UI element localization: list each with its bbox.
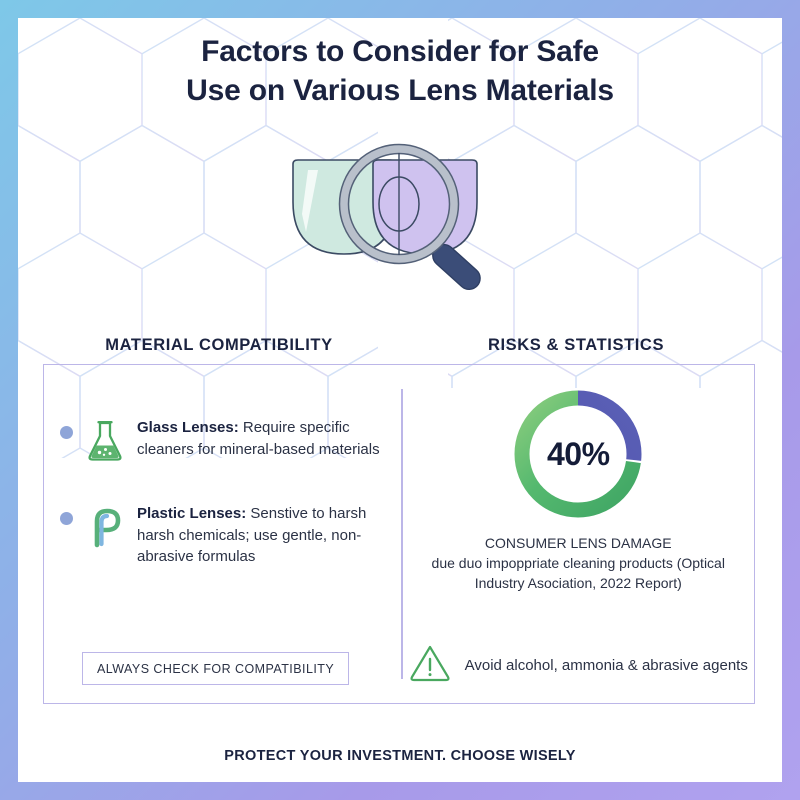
donut-center-value: 40% [511,387,645,521]
list-item-term: Plastic Lenses: [137,505,246,522]
risks-statistics-heading: RISKS & STATISTICS [488,336,664,354]
warning-text: Avoid alcohol, ammonia & abrasive agents [465,655,748,676]
footer-tagline: PROTECT YOUR INVESTMENT. CHOOSE WISELY [18,748,782,764]
statistic-caption: CONSUMER LENS DAMAGE due duo impoppriate… [419,533,739,593]
statistic-caption-head: CONSUMER LENS DAMAGE [419,533,739,553]
title-line-2: Use on Various Lens Materials [18,71,782,110]
list-item: Plastic Lenses: Senstive to harsh harsh … [60,503,389,568]
lens-magnifier-illustration [275,136,525,296]
bullet-dot-icon [60,512,73,525]
content-panel: Glass Lenses: Require specific cleaners … [43,364,755,704]
poster-canvas: Factors to Consider for Safe Use on Vari… [18,18,782,782]
material-compatibility-column: Glass Lenses: Require specific cleaners … [44,365,401,703]
material-compatibility-heading: MATERIAL COMPATIBILITY [105,336,332,354]
plastic-polymer-p-icon [79,505,131,549]
flask-icon [79,419,131,463]
warning-triangle-icon [409,643,451,688]
bullet-dot-icon [60,426,73,439]
list-item-text: Glass Lenses: Require specific cleaners … [137,417,389,460]
right-heading-wrap: RISKS & STATISTICS [395,336,757,355]
risks-statistics-column: 40% CONSUMER LENS DAMAGE due duo impoppr… [403,365,755,703]
hero-illustration [18,136,782,296]
donut-chart: 40% [403,387,755,521]
page-title: Factors to Consider for Safe Use on Vari… [18,32,782,110]
title-line-1: Factors to Consider for Safe [18,32,782,71]
material-bullet-list: Glass Lenses: Require specific cleaners … [60,417,389,608]
warning-row: Avoid alcohol, ammonia & abrasive agents [403,643,755,688]
list-item-text: Plastic Lenses: Senstive to harsh harsh … [137,503,389,568]
statistic-caption-body: due duo impoppriate cleaning products (O… [432,555,725,591]
list-item: Glass Lenses: Require specific cleaners … [60,417,389,463]
list-item-term: Glass Lenses: [137,419,239,436]
always-check-compatibility-button[interactable]: ALWAYS CHECK FOR COMPATIBILITY [82,652,349,685]
plastic-lens-shape [373,160,477,254]
section-headings: MATERIAL COMPATIBILITY RISKS & STATISTIC… [43,336,757,355]
left-heading-wrap: MATERIAL COMPATIBILITY [43,336,395,355]
infographic-poster: Factors to Consider for Safe Use on Vari… [0,0,800,800]
